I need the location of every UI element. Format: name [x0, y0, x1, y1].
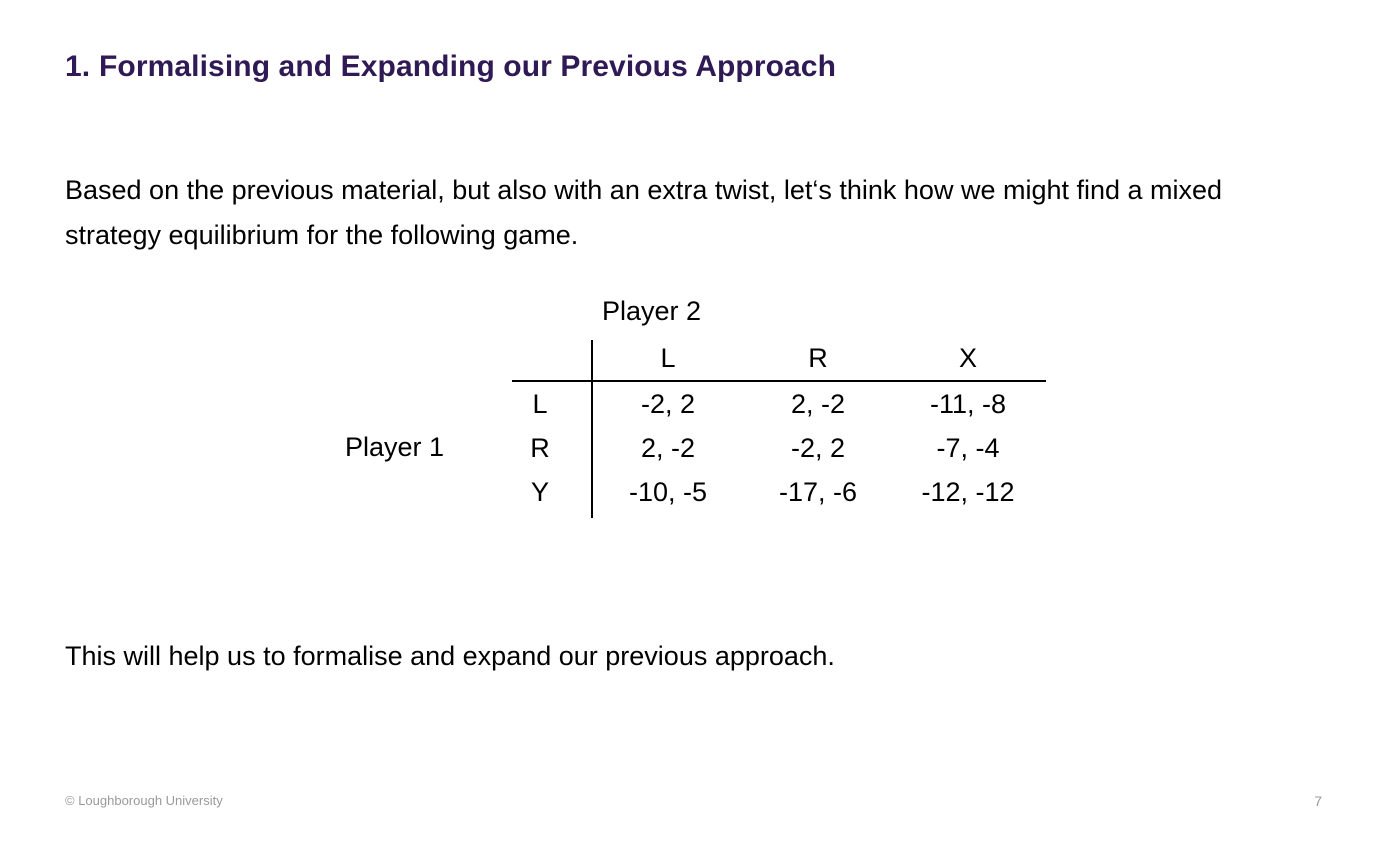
matrix-column-header: R	[743, 343, 893, 374]
matrix-cell: 2, -2	[743, 389, 893, 420]
matrix-cell: -11, -8	[893, 389, 1043, 420]
matrix-column-header: X	[893, 343, 1043, 374]
matrix-cell: -2, 2	[593, 389, 743, 420]
title-list-number: 1.	[65, 50, 99, 84]
matrix-row-header: L	[505, 389, 575, 420]
row-player-label: Player 1	[345, 432, 444, 463]
matrix-cell: -12, -12	[893, 477, 1043, 508]
closing-paragraph: This will help us to formalise and expan…	[65, 634, 1280, 679]
matrix-row-header: Y	[505, 477, 575, 508]
matrix-cell: -17, -6	[743, 477, 893, 508]
title-label: Formalising and Expanding our Previous A…	[99, 50, 836, 83]
page-title: 1.Formalising and Expanding our Previous…	[65, 50, 836, 84]
slide-canvas: 1.Formalising and Expanding our Previous…	[0, 0, 1396, 854]
intro-paragraph: Based on the previous material, but also…	[65, 168, 1280, 258]
matrix-cell: 2, -2	[593, 433, 743, 464]
footer-page-number: 7	[1314, 793, 1322, 809]
matrix-cell: -7, -4	[893, 433, 1043, 464]
matrix-cell: -10, -5	[593, 477, 743, 508]
matrix-row-header: R	[505, 433, 575, 464]
matrix-cell: -2, 2	[743, 433, 893, 464]
payoff-matrix: Player 2 Player 1 L R X L R Y -2, 2 2, -…	[0, 296, 1396, 536]
column-player-label: Player 2	[602, 296, 701, 327]
footer-copyright: © Loughborough University	[65, 793, 223, 808]
matrix-column-header: L	[593, 343, 743, 374]
